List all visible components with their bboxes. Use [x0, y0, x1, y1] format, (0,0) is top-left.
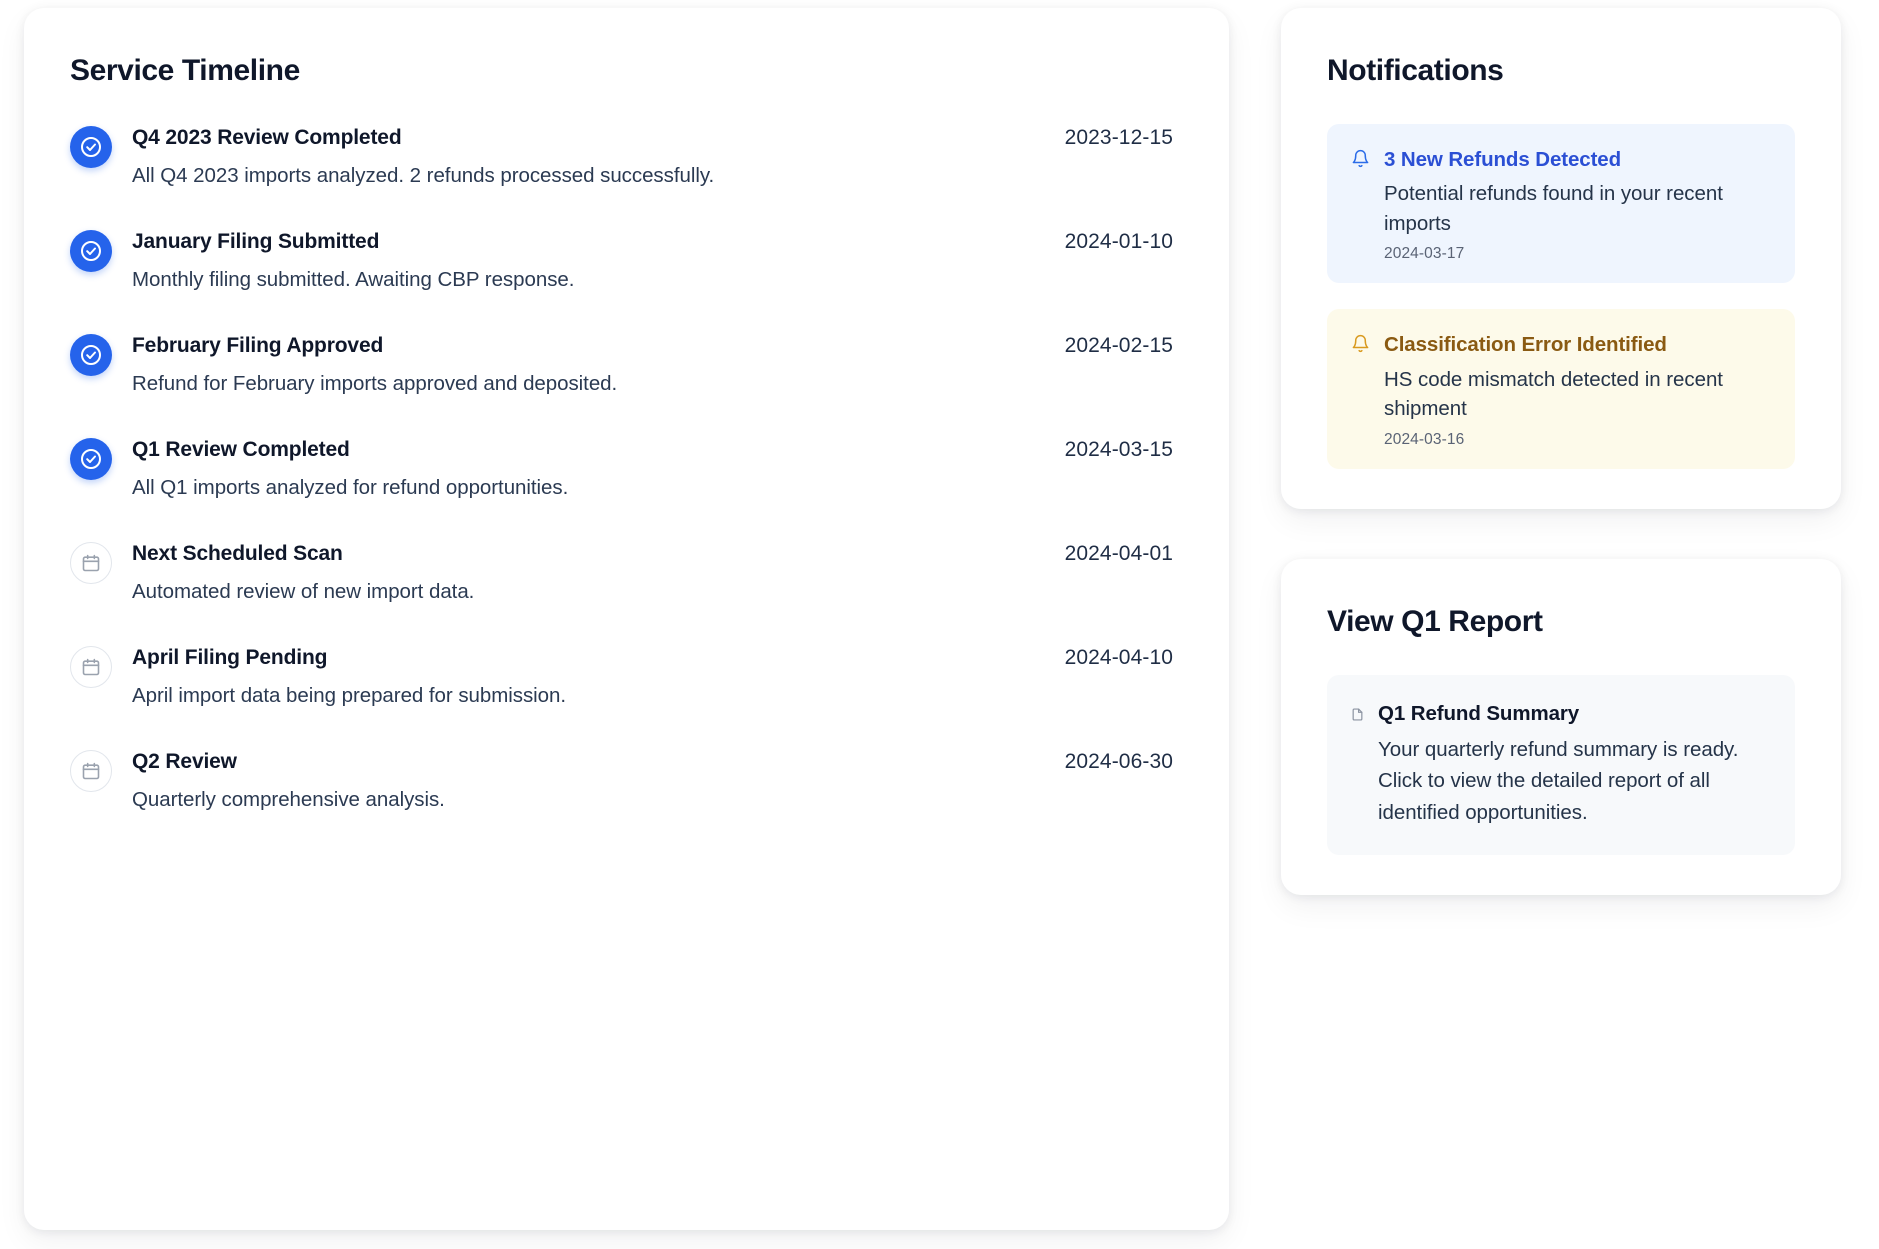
timeline-item-description: April import data being prepared for sub… [132, 681, 1173, 711]
right-sidebar: Notifications 3 New Refunds DetectedPote… [1281, 8, 1841, 895]
timeline-list: Q4 2023 Review Completed2023-12-15All Q4… [70, 124, 1173, 815]
timeline-item-body: Next Scheduled Scan2024-04-01Automated r… [132, 540, 1173, 607]
notification-message: HS code mismatch detected in recent ship… [1384, 365, 1771, 424]
timeline-item: Q1 Review Completed2024-03-15All Q1 impo… [70, 436, 1173, 503]
bell-icon [1351, 149, 1370, 168]
timeline-item: Q4 2023 Review Completed2023-12-15All Q4… [70, 124, 1173, 191]
timeline-item-body: Q2 Review2024-06-30Quarterly comprehensi… [132, 748, 1173, 815]
timeline-item-date: 2024-04-10 [1065, 646, 1173, 670]
timeline-item-description: Monthly filing submitted. Awaiting CBP r… [132, 265, 1173, 295]
document-icon [1351, 708, 1364, 721]
dashboard-root: Service Timeline Q4 2023 Review Complete… [0, 0, 1879, 1249]
check-circle-icon [70, 126, 112, 168]
notifications-panel: Notifications 3 New Refunds DetectedPote… [1281, 8, 1841, 509]
notification-date: 2024-03-17 [1384, 245, 1771, 263]
timeline-item-date: 2024-04-01 [1065, 542, 1173, 566]
notification-message: Potential refunds found in your recent i… [1384, 179, 1771, 238]
notifications-list: 3 New Refunds DetectedPotential refunds … [1327, 124, 1795, 469]
timeline-item: Next Scheduled Scan2024-04-01Automated r… [70, 540, 1173, 607]
timeline-item-title: April Filing Pending [132, 645, 327, 671]
timeline-item-date: 2024-01-10 [1065, 230, 1173, 254]
bell-icon [1351, 334, 1370, 353]
calendar-icon [70, 750, 112, 792]
report-panel-title: View Q1 Report [1327, 605, 1795, 639]
report-summary-card[interactable]: Q1 Refund Summary Your quarterly refund … [1327, 675, 1795, 855]
timeline-item-date: 2024-06-30 [1065, 750, 1173, 774]
timeline-item-title: Q4 2023 Review Completed [132, 125, 402, 151]
report-summary-text: Your quarterly refund summary is ready. … [1378, 734, 1769, 829]
check-circle-icon [70, 230, 112, 272]
timeline-item: April Filing Pending2024-04-10April impo… [70, 644, 1173, 711]
service-timeline-card: Service Timeline Q4 2023 Review Complete… [24, 8, 1229, 1230]
timeline-item-body: February Filing Approved2024-02-15Refund… [132, 332, 1173, 399]
timeline-item-body: Q4 2023 Review Completed2023-12-15All Q4… [132, 124, 1173, 191]
timeline-item-date: 2024-02-15 [1065, 334, 1173, 358]
timeline-item-title: January Filing Submitted [132, 229, 379, 255]
timeline-item-description: Automated review of new import data. [132, 577, 1173, 607]
notification-card[interactable]: 3 New Refunds DetectedPotential refunds … [1327, 124, 1795, 283]
timeline-item-description: Refund for February imports approved and… [132, 369, 1173, 399]
timeline-item-header: Q1 Review Completed2024-03-15 [132, 437, 1173, 463]
timeline-item: February Filing Approved2024-02-15Refund… [70, 332, 1173, 399]
notification-title: Classification Error Identified [1384, 331, 1667, 358]
timeline-item-date: 2023-12-15 [1065, 126, 1173, 150]
timeline-item-body: April Filing Pending2024-04-10April impo… [132, 644, 1173, 711]
check-circle-icon [70, 438, 112, 480]
timeline-item-description: Quarterly comprehensive analysis. [132, 785, 1173, 815]
view-q1-report-panel[interactable]: View Q1 Report Q1 Refund Summary Your qu… [1281, 559, 1841, 895]
timeline-item: January Filing Submitted2024-01-10Monthl… [70, 228, 1173, 295]
timeline-item-header: Next Scheduled Scan2024-04-01 [132, 541, 1173, 567]
timeline-item-body: Q1 Review Completed2024-03-15All Q1 impo… [132, 436, 1173, 503]
timeline-item-header: Q4 2023 Review Completed2023-12-15 [132, 125, 1173, 151]
check-circle-icon [70, 334, 112, 376]
notification-header: Classification Error Identified [1351, 331, 1771, 358]
timeline-item-header: Q2 Review2024-06-30 [132, 749, 1173, 775]
report-summary-header: Q1 Refund Summary [1351, 701, 1769, 728]
notification-title: 3 New Refunds Detected [1384, 146, 1621, 173]
timeline-item-body: January Filing Submitted2024-01-10Monthl… [132, 228, 1173, 295]
timeline-item-title: Q2 Review [132, 749, 237, 775]
timeline-item: Q2 Review2024-06-30Quarterly comprehensi… [70, 748, 1173, 815]
timeline-item-header: January Filing Submitted2024-01-10 [132, 229, 1173, 255]
notifications-title: Notifications [1327, 54, 1795, 88]
notification-card[interactable]: Classification Error IdentifiedHS code m… [1327, 309, 1795, 468]
page-title: Service Timeline [70, 54, 1173, 88]
report-summary-title: Q1 Refund Summary [1378, 701, 1579, 728]
calendar-icon [70, 542, 112, 584]
timeline-item-header: February Filing Approved2024-02-15 [132, 333, 1173, 359]
timeline-item-title: Next Scheduled Scan [132, 541, 343, 567]
timeline-item-date: 2024-03-15 [1065, 438, 1173, 462]
timeline-item-description: All Q1 imports analyzed for refund oppor… [132, 473, 1173, 503]
calendar-icon [70, 646, 112, 688]
timeline-item-title: Q1 Review Completed [132, 437, 350, 463]
timeline-item-description: All Q4 2023 imports analyzed. 2 refunds … [132, 161, 1173, 191]
notification-header: 3 New Refunds Detected [1351, 146, 1771, 173]
notification-date: 2024-03-16 [1384, 431, 1771, 449]
timeline-item-header: April Filing Pending2024-04-10 [132, 645, 1173, 671]
timeline-item-title: February Filing Approved [132, 333, 383, 359]
